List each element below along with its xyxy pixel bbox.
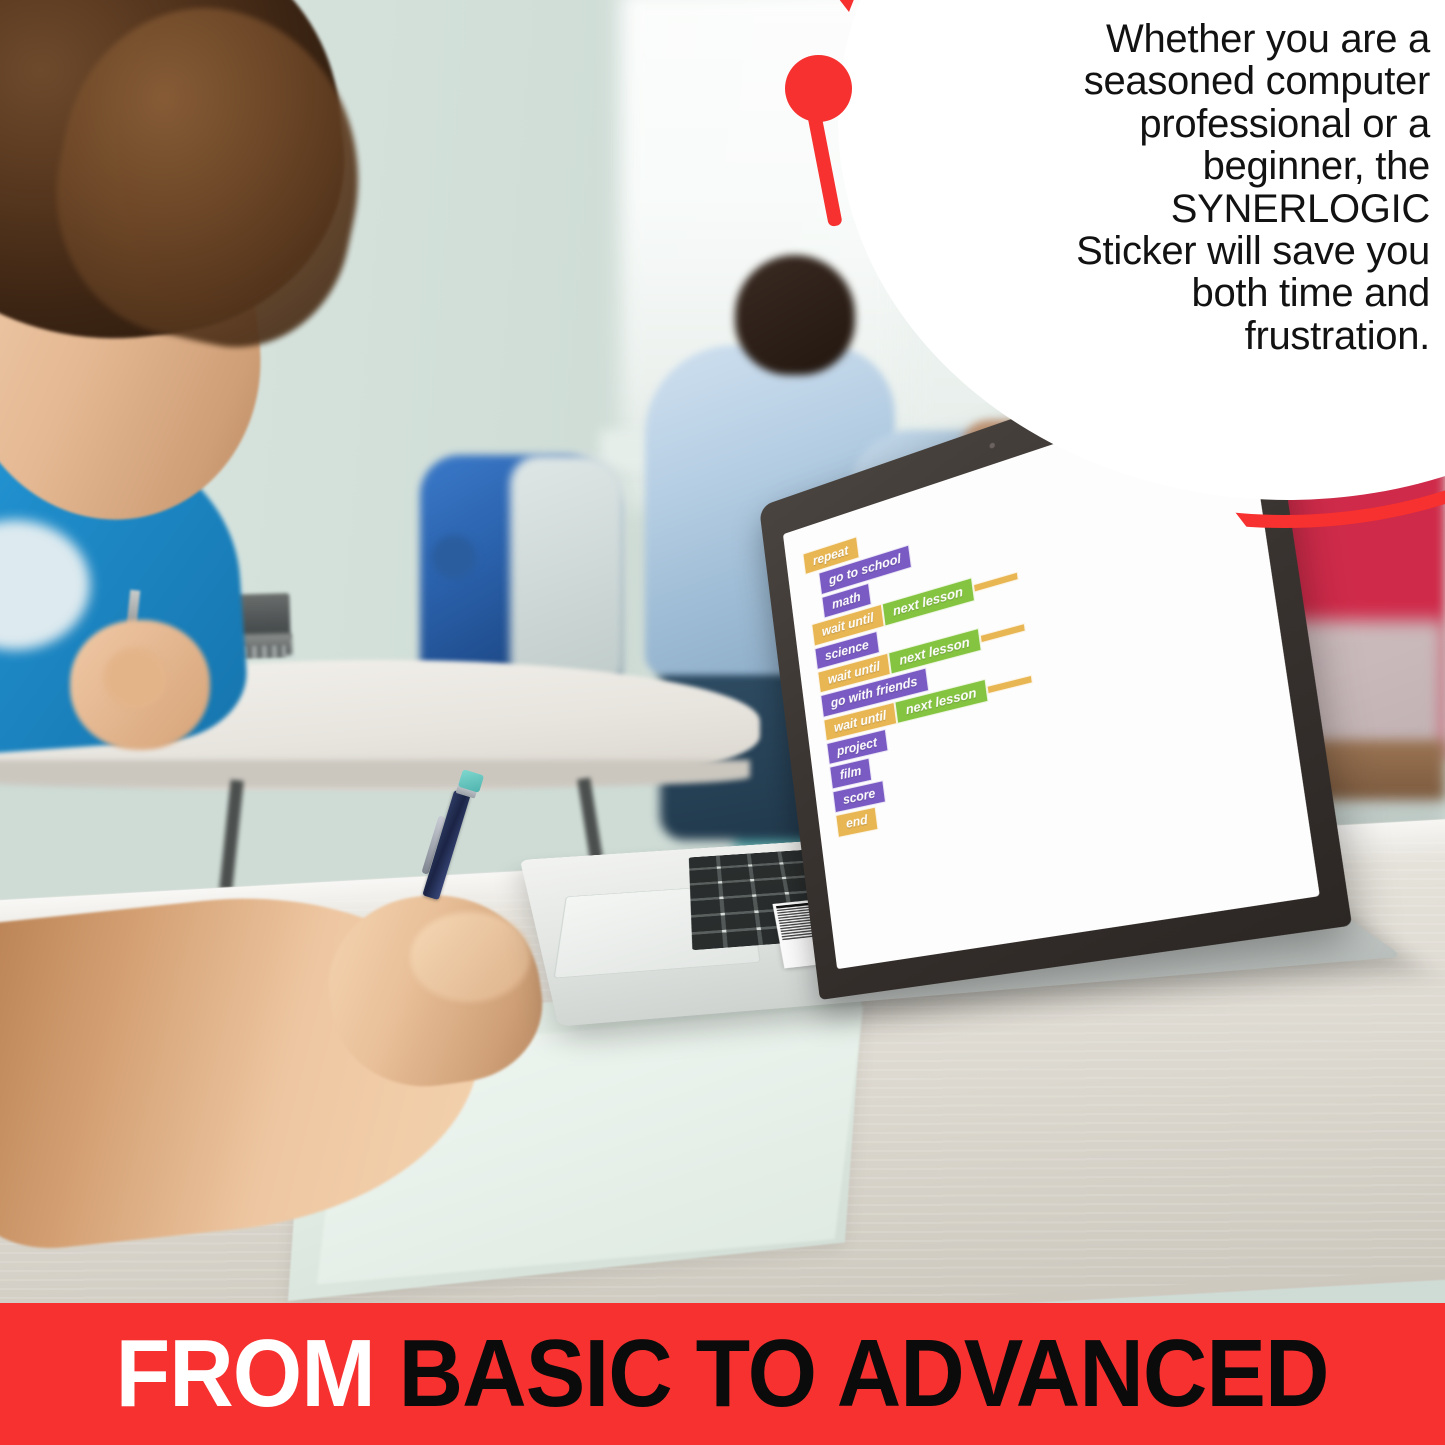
foreground-hand-knuckles: [410, 912, 530, 1002]
foreground-student-upper-fist: [104, 648, 166, 708]
backpack-zipper: [432, 535, 476, 579]
background-student-head: [735, 255, 855, 375]
webcam-icon: [989, 442, 995, 449]
banner-word-from: FROM: [116, 1320, 375, 1427]
bottom-banner: FROM BASIC TO ADVANCED: [0, 1303, 1445, 1445]
laptop: repeatgo to schoolmathwait untilnext les…: [520, 480, 1320, 1120]
code-block-pad[interactable]: [986, 674, 1032, 694]
banner-text: FROM BASIC TO ADVANCED: [116, 1319, 1329, 1429]
red-dot-pointer-icon: [785, 55, 852, 122]
callout-text: Whether you are a seasoned computer prof…: [1040, 18, 1430, 357]
promo-image: repeatgo to schoolmathwait untilnext les…: [0, 0, 1445, 1445]
code-block-pad[interactable]: [973, 572, 1019, 593]
middle-desk-leg-left: [219, 780, 243, 891]
banner-word-basic-to-advanced: BASIC TO ADVANCED: [399, 1320, 1329, 1427]
code-block-pad[interactable]: [980, 623, 1026, 643]
